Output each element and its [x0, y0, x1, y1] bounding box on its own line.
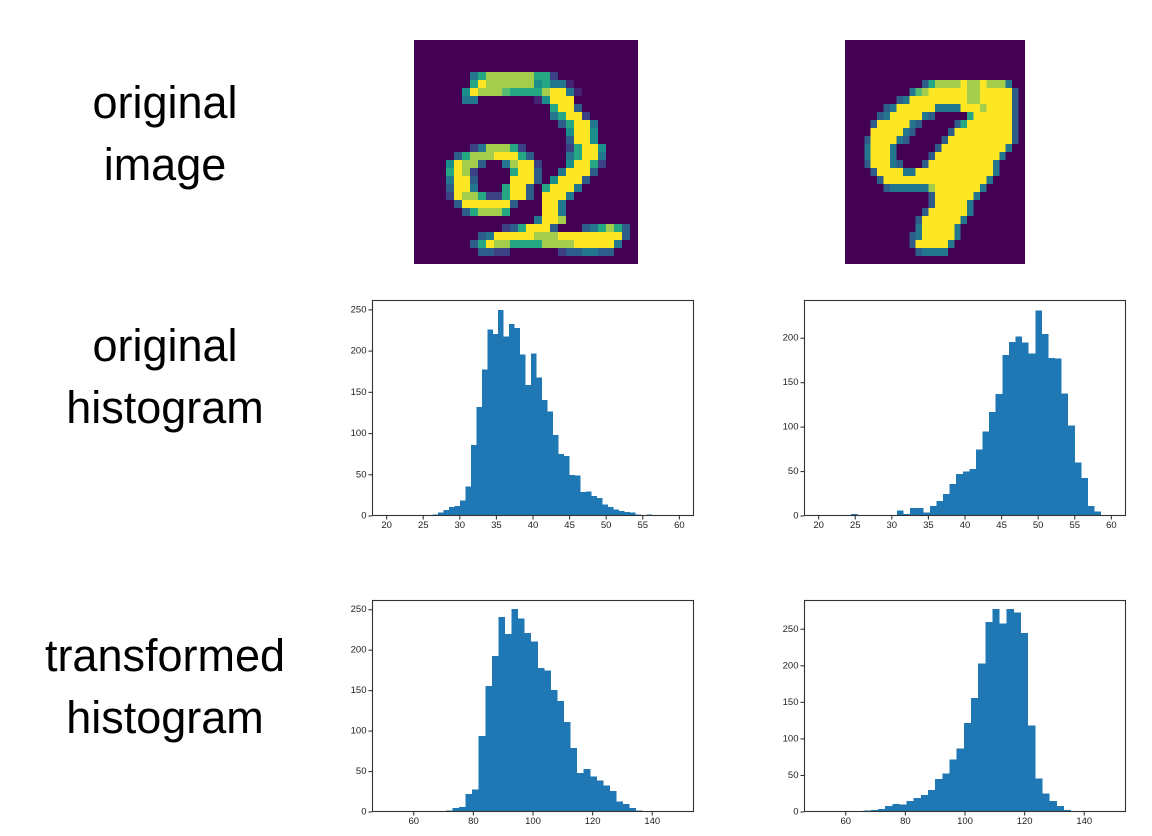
- row-label-original-image: original image: [0, 72, 330, 196]
- svg-text:150: 150: [351, 685, 367, 696]
- histogram-svg: 6080100120140050100150200250: [338, 590, 700, 836]
- row-label-transformed-histogram: transformed histogram: [0, 625, 330, 749]
- svg-text:0: 0: [361, 511, 366, 522]
- svg-text:100: 100: [957, 816, 973, 827]
- svg-text:50: 50: [356, 766, 367, 777]
- svg-text:50: 50: [601, 520, 612, 531]
- svg-text:45: 45: [996, 520, 1007, 531]
- svg-text:0: 0: [793, 807, 798, 818]
- svg-text:140: 140: [1076, 816, 1092, 827]
- svg-text:50: 50: [788, 770, 799, 781]
- svg-text:80: 80: [900, 816, 911, 827]
- row-label-line2: histogram: [0, 687, 330, 749]
- digit-image-2: [414, 40, 638, 264]
- svg-text:100: 100: [351, 726, 367, 737]
- svg-text:100: 100: [351, 428, 367, 439]
- svg-text:200: 200: [783, 333, 799, 344]
- svg-text:250: 250: [351, 304, 367, 315]
- row-label-line1: original: [0, 315, 330, 377]
- svg-text:120: 120: [1017, 816, 1033, 827]
- svg-text:55: 55: [1069, 520, 1080, 531]
- svg-text:200: 200: [351, 645, 367, 656]
- svg-text:55: 55: [637, 520, 648, 531]
- chart-transformed-histogram-right: 6080100120140050100150200250: [770, 590, 1132, 836]
- svg-text:140: 140: [644, 816, 660, 827]
- row-label-line2: image: [0, 134, 330, 196]
- svg-text:35: 35: [923, 520, 934, 531]
- svg-text:150: 150: [783, 377, 799, 388]
- svg-text:200: 200: [351, 346, 367, 357]
- histogram-svg: 202530354045505560050100150200250: [338, 292, 700, 542]
- svg-text:80: 80: [468, 816, 479, 827]
- svg-text:40: 40: [528, 520, 539, 531]
- svg-text:30: 30: [455, 520, 466, 531]
- svg-text:45: 45: [564, 520, 575, 531]
- digit-canvas-left: [414, 40, 638, 264]
- svg-text:50: 50: [356, 469, 367, 480]
- row-label-line2: histogram: [0, 377, 330, 439]
- svg-text:100: 100: [783, 422, 799, 433]
- svg-text:25: 25: [850, 520, 861, 531]
- svg-text:30: 30: [887, 520, 898, 531]
- svg-text:250: 250: [351, 604, 367, 615]
- svg-text:100: 100: [525, 816, 541, 827]
- row-label-line1: transformed: [0, 625, 330, 687]
- svg-text:250: 250: [783, 624, 799, 635]
- row-label-line1: original: [0, 72, 330, 134]
- chart-original-histogram-left: 202530354045505560050100150200250: [338, 292, 700, 542]
- svg-text:120: 120: [585, 816, 601, 827]
- svg-text:0: 0: [793, 511, 798, 522]
- row-label-original-histogram: original histogram: [0, 315, 330, 439]
- histogram-svg: 6080100120140050100150200250: [770, 590, 1132, 836]
- svg-text:150: 150: [783, 697, 799, 708]
- svg-text:200: 200: [783, 660, 799, 671]
- svg-text:20: 20: [381, 520, 392, 531]
- svg-text:150: 150: [351, 387, 367, 398]
- svg-text:50: 50: [1033, 520, 1044, 531]
- chart-transformed-histogram-left: 6080100120140050100150200250: [338, 590, 700, 836]
- svg-text:25: 25: [418, 520, 429, 531]
- svg-text:50: 50: [788, 466, 799, 477]
- svg-text:20: 20: [813, 520, 824, 531]
- histogram-svg: 202530354045505560050100150200: [770, 292, 1132, 542]
- svg-text:60: 60: [1106, 520, 1117, 531]
- chart-original-histogram-right: 202530354045505560050100150200: [770, 292, 1132, 542]
- svg-text:60: 60: [408, 816, 419, 827]
- figure-grid: original image original histogram transf…: [0, 0, 1152, 836]
- digit-image-9: [845, 40, 1025, 264]
- digit-canvas-right: [845, 40, 1025, 264]
- svg-text:100: 100: [783, 733, 799, 744]
- svg-text:60: 60: [674, 520, 685, 531]
- svg-text:40: 40: [960, 520, 971, 531]
- svg-text:60: 60: [840, 816, 851, 827]
- svg-text:0: 0: [361, 807, 366, 818]
- svg-text:35: 35: [491, 520, 502, 531]
